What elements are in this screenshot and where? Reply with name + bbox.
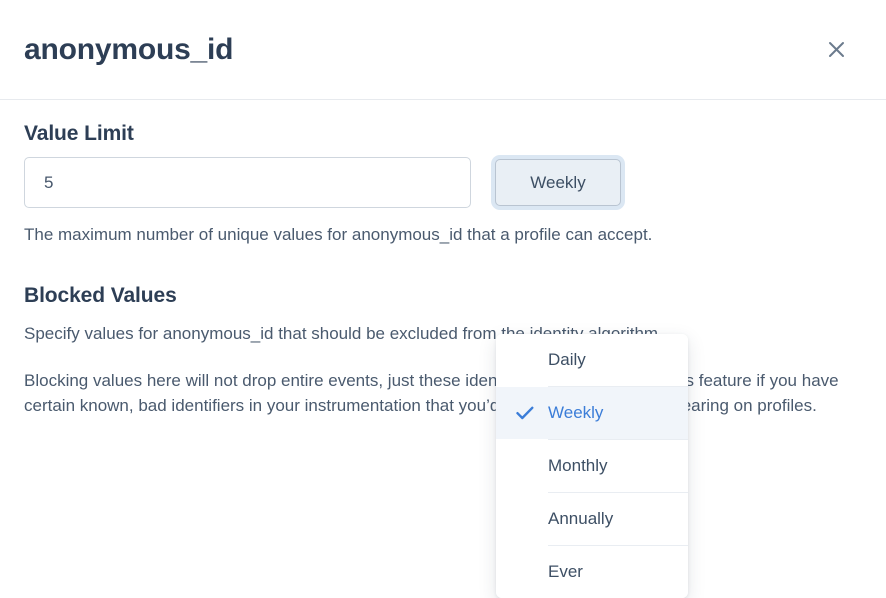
close-icon (828, 41, 845, 58)
modal-header: anonymous_id (0, 0, 886, 100)
check-icon (516, 406, 548, 420)
page-title: anonymous_id (24, 33, 233, 66)
close-button[interactable] (821, 35, 851, 65)
dropdown-item-weekly[interactable]: Weekly (496, 387, 688, 439)
dropdown-item-label: Monthly (548, 456, 672, 476)
blocked-values-description: Specify values for anonymous_id that sho… (24, 321, 862, 347)
period-dropdown-menu[interactable]: Daily Weekly Monthly Annually (496, 334, 688, 598)
period-select-button[interactable]: Weekly (495, 159, 621, 206)
dropdown-item-label: Annually (548, 509, 672, 529)
settings-modal: anonymous_id Value Limit Weekly The maxi… (0, 0, 886, 532)
value-limit-row: Weekly (24, 157, 862, 208)
dropdown-item-annually[interactable]: Annually (496, 493, 688, 545)
value-limit-help-text: The maximum number of unique values for … (24, 222, 862, 248)
dropdown-item-label: Daily (548, 350, 672, 370)
dropdown-item-monthly[interactable]: Monthly (496, 440, 688, 492)
value-limit-heading: Value Limit (24, 122, 862, 146)
blocked-values-heading: Blocked Values (24, 284, 862, 308)
dropdown-item-label: Weekly (548, 403, 672, 423)
dropdown-item-label: Ever (548, 562, 672, 582)
blocked-values-note: Blocking values here will not drop entir… (24, 368, 862, 420)
dropdown-item-daily[interactable]: Daily (496, 334, 688, 386)
modal-body: Value Limit Weekly The maximum number of… (0, 100, 886, 532)
dropdown-item-ever[interactable]: Ever (496, 546, 688, 598)
period-select-wrap: Weekly (495, 159, 621, 206)
value-limit-input[interactable] (24, 157, 471, 208)
